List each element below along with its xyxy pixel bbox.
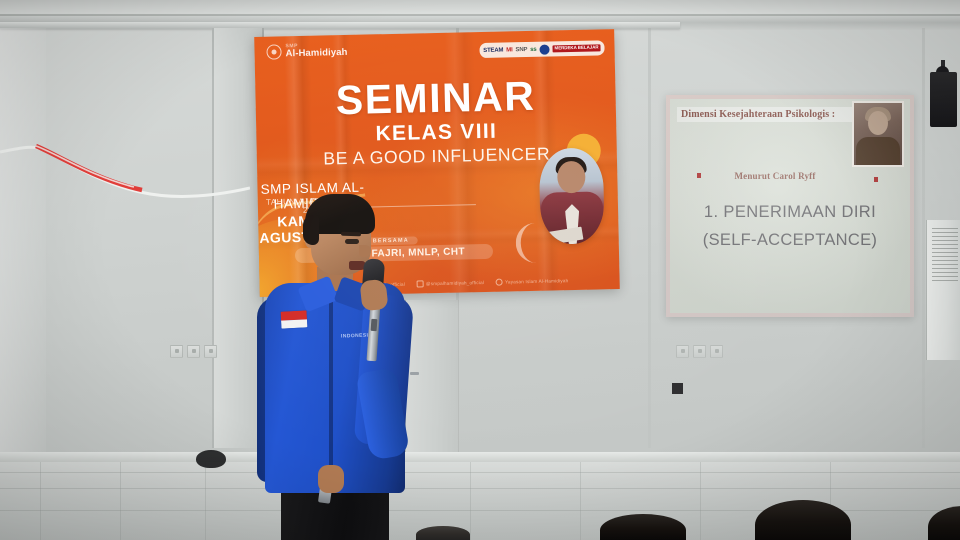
light-switch[interactable] bbox=[676, 345, 689, 358]
presenter-eyebrow bbox=[341, 232, 361, 237]
presenter-left-hand bbox=[318, 465, 344, 493]
slide-heading-line-2: (SELF-ACCEPTANCE) bbox=[670, 231, 910, 250]
light-switch-panel-right[interactable] bbox=[676, 345, 723, 358]
projection-screen: Dimensi Kesejahteraan Psikologis : Menur… bbox=[666, 95, 914, 317]
presenter-nose bbox=[359, 245, 371, 257]
banner-partner-logos: STEAM MI SNP ss MERDEKA BELAJAR bbox=[479, 40, 605, 58]
social-handle-website: Yayasan Islam Al-Hamidiyah bbox=[505, 278, 568, 284]
banner-speaker-portrait bbox=[539, 147, 605, 244]
wall-outlet-box bbox=[672, 383, 683, 394]
microphone-switch[interactable] bbox=[371, 319, 378, 331]
portrait-face bbox=[557, 161, 586, 194]
tutwuri-handayani-emblem-icon bbox=[539, 44, 549, 54]
slide-title-bar: Dimensi Kesejahteraan Psikologis : bbox=[677, 107, 868, 122]
banner-logo-name: Al-Hamidiyah bbox=[285, 48, 347, 59]
audience-head bbox=[416, 526, 470, 540]
wall-seam-right bbox=[648, 28, 651, 448]
wall-speaker bbox=[930, 72, 957, 127]
air-conditioner-vents bbox=[932, 228, 958, 280]
partner-logo-mi: MI bbox=[506, 47, 512, 53]
slide-portrait-photo bbox=[852, 101, 904, 167]
light-switch[interactable] bbox=[710, 345, 723, 358]
jacket-placket bbox=[329, 297, 333, 487]
presenter-right-hand bbox=[360, 279, 389, 312]
ceiling-cornice bbox=[0, 22, 680, 29]
slide-title: Dimensi Kesejahteraan Psikologis : bbox=[681, 109, 864, 120]
ribbon-decoration bbox=[0, 130, 250, 240]
presenter-sideburn bbox=[303, 215, 319, 245]
partner-logo-merdeka-belajar: MERDEKA BELAJAR bbox=[552, 44, 600, 52]
photo-scene: SMP Al-Hamidiyah STEAM MI SNP ss MERDEKA… bbox=[0, 0, 960, 540]
indonesia-flag-patch-icon bbox=[281, 310, 308, 328]
wall-seam-far-right bbox=[922, 28, 925, 448]
partner-logo-ss: ss bbox=[530, 46, 536, 52]
slide-heading-line-1: 1. PENERIMAAN DIRI bbox=[670, 203, 910, 222]
light-switch-panel-left[interactable] bbox=[170, 345, 217, 358]
presenter-eye bbox=[345, 239, 359, 244]
floor-cable-bundle bbox=[196, 450, 226, 468]
audience-head bbox=[600, 514, 686, 540]
presenter: INDONESIA bbox=[255, 185, 435, 540]
air-conditioner-unit bbox=[926, 220, 960, 360]
presentation-slide: Dimensi Kesejahteraan Psikologis : Menur… bbox=[670, 99, 910, 313]
slide-author: Menurut Carol Ryff bbox=[670, 171, 880, 181]
website-icon bbox=[496, 279, 503, 286]
wall-light-column bbox=[0, 28, 46, 458]
partner-logo-steam: STEAM bbox=[483, 47, 503, 53]
light-switch[interactable] bbox=[187, 345, 200, 358]
banner-school-logo: SMP Al-Hamidiyah bbox=[266, 43, 347, 60]
partner-logo-snp: SNP bbox=[515, 47, 527, 53]
slide-photo-face bbox=[868, 111, 888, 135]
ceiling-line bbox=[0, 14, 960, 16]
light-switch[interactable] bbox=[204, 345, 217, 358]
light-switch[interactable] bbox=[693, 345, 706, 358]
slide-photo-body bbox=[856, 137, 900, 165]
school-emblem-icon bbox=[266, 44, 281, 59]
light-switch[interactable] bbox=[170, 345, 183, 358]
